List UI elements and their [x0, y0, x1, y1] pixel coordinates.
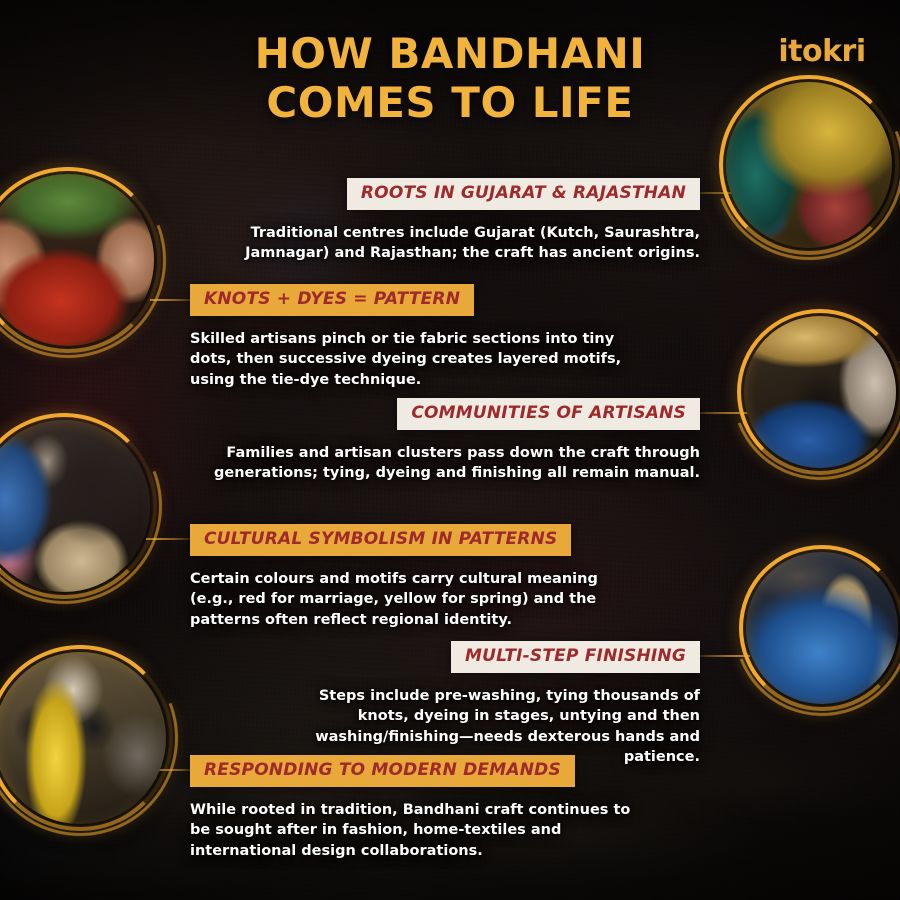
content-block-cultural-symbolism-in-patterns: CULTURAL SYMBOLISM IN PATTERNS Certain c…	[190, 524, 630, 630]
section-text-communities-of-artisans: Families and artisan clusters pass down …	[204, 443, 700, 484]
page-title: HOW BANDHANI COMES TO LIFE	[0, 30, 900, 127]
content-block-knots-dyes-pattern: KNOTS + DYES = PATTERN Skilled artisans …	[190, 284, 622, 390]
content-block-multi-step-finishing: MULTI-STEP FINISHING Steps include pre-w…	[264, 641, 700, 768]
section-text-responding-to-modern-demands: While rooted in tradition, Bandhani craf…	[190, 800, 650, 862]
photo-lifting-yellow-dyed-fabric	[0, 652, 166, 824]
title-line-1: HOW BANDHANI	[150, 30, 750, 79]
photo-artisan-family-cluster-tying	[0, 420, 150, 592]
section-label-communities-of-artisans[interactable]: COMMUNITIES OF ARTISANS	[397, 398, 700, 430]
infographic-poster: itokri HOW BANDHANI COMES TO LIFE	[0, 0, 900, 900]
content-block-communities-of-artisans: COMMUNITIES OF ARTISANS Families and art…	[204, 398, 700, 484]
title-line-2: COMES TO LIFE	[150, 79, 750, 128]
content-block-roots-in-gujarat-rajasthan: ROOTS IN GUJARAT & RAJASTHAN Traditional…	[234, 178, 700, 264]
section-text-cultural-symbolism-in-patterns: Certain colours and motifs carry cultura…	[190, 569, 630, 631]
section-text-knots-dyes-pattern: Skilled artisans pinch or tie fabric sec…	[190, 329, 622, 391]
section-label-cultural-symbolism-in-patterns[interactable]: CULTURAL SYMBOLISM IN PATTERNS	[190, 524, 571, 556]
itokri-logo[interactable]: itokri	[774, 30, 870, 74]
section-label-knots-dyes-pattern[interactable]: KNOTS + DYES = PATTERN	[190, 284, 474, 316]
photo-artisan-dyeing-black-fabric	[744, 316, 896, 468]
section-label-multi-step-finishing[interactable]: MULTI-STEP FINISHING	[451, 641, 700, 673]
photo-hands-tying-red-fabric	[0, 174, 154, 346]
section-text-roots-in-gujarat-rajasthan: Traditional centres include Gujarat (Kut…	[234, 223, 700, 264]
section-label-responding-to-modern-demands[interactable]: RESPONDING TO MODERN DEMANDS	[190, 755, 575, 787]
section-label-roots-in-gujarat-rajasthan[interactable]: ROOTS IN GUJARAT & RAJASTHAN	[347, 178, 700, 210]
brand-wordmark: itokri	[778, 37, 865, 67]
photo-blue-indigo-dye-vat	[746, 552, 898, 704]
content-block-responding-to-modern-demands: RESPONDING TO MODERN DEMANDS While roote…	[190, 755, 650, 861]
